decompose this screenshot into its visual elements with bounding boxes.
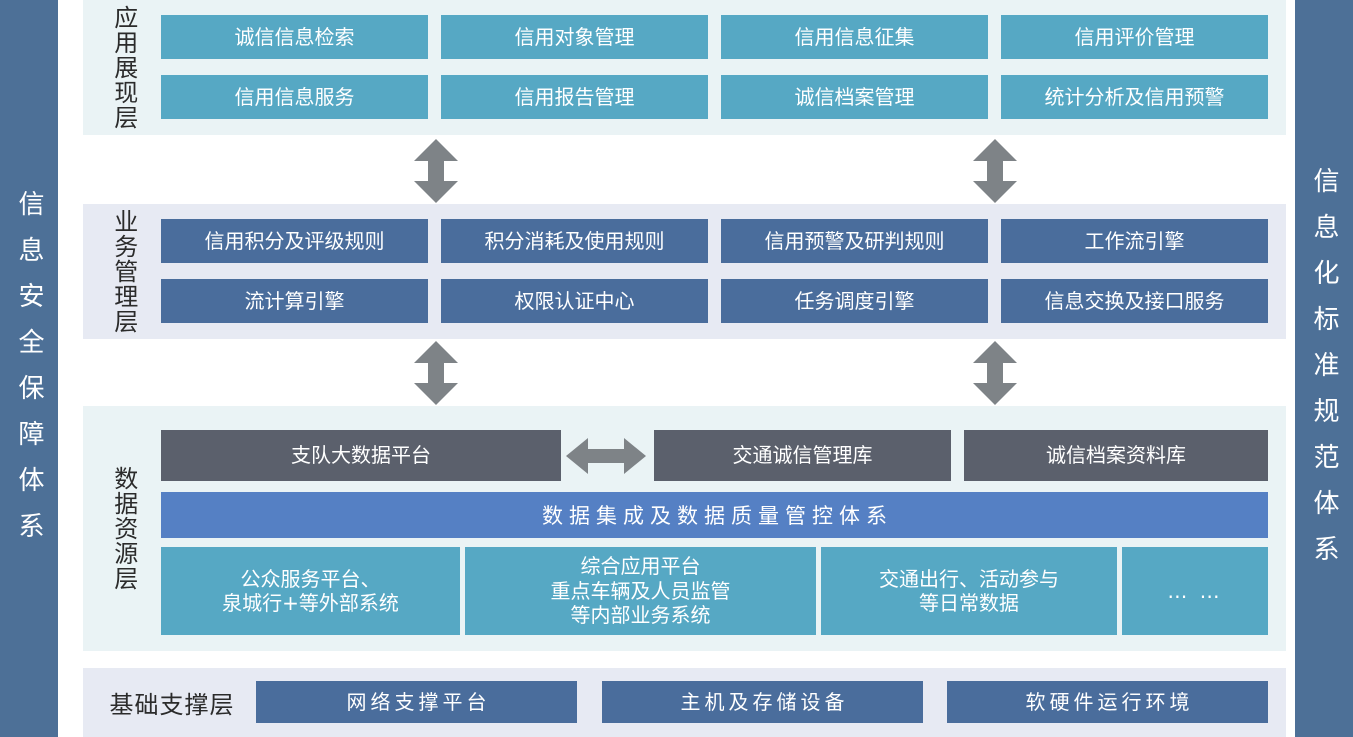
app-box-credit-info-collection[interactable]: 信用信息征集	[721, 15, 988, 59]
arrow-app-to-business-left	[414, 139, 458, 203]
infra-box-host-storage[interactable]: 主机及存储设备	[602, 681, 923, 723]
architecture-diagram: 信息安全保障体系 信息化标准规范体系 应用展现层 诚信信息检索 信用对象管理 信…	[0, 0, 1353, 737]
app-box-label: 信用信息征集	[795, 25, 915, 49]
app-box-label: 诚信档案管理	[795, 85, 915, 109]
biz-box-label: 流计算引擎	[245, 289, 345, 313]
data-repo-big-data-platform[interactable]: 支队大数据平台	[161, 430, 561, 481]
left-side-bar-label: 信息安全保障体系	[16, 180, 42, 558]
data-repo-traffic-credit-db[interactable]: 交通诚信管理库	[654, 430, 951, 481]
data-source-integrated-application-platform[interactable]: 综合应用平台 重点车辆及人员监管 等内部业务系统	[465, 547, 816, 635]
app-box-label: 信用信息服务	[235, 85, 355, 109]
data-integration-band-label: 数据集成及数据质量管控体系	[536, 500, 893, 530]
biz-box-label: 工作流引擎	[1085, 229, 1185, 253]
biz-box-info-exchange-api-service[interactable]: 信息交换及接口服务	[1001, 279, 1268, 323]
arrow-app-to-business-right	[973, 139, 1017, 203]
arrow-business-to-data-right	[973, 341, 1017, 405]
app-box-credit-info-search[interactable]: 诚信信息检索	[161, 15, 428, 59]
layer-title-infrastructure-support: 基础支撑层	[92, 668, 252, 737]
left-side-bar-security-assurance: 信息安全保障体系	[0, 0, 58, 737]
data-repo-label: 支队大数据平台	[291, 443, 431, 467]
app-box-credit-subject-mgmt[interactable]: 信用对象管理	[441, 15, 708, 59]
biz-box-label: 信息交换及接口服务	[1045, 289, 1225, 313]
app-box-label: 诚信信息检索	[235, 25, 355, 49]
data-repo-label: 交通诚信管理库	[733, 443, 873, 467]
data-source-label: 公众服务平台、 泉城行+等外部系统	[222, 567, 399, 616]
biz-box-warning-judgement-rules[interactable]: 信用预警及研判规则	[721, 219, 988, 263]
data-repo-credit-archive-db[interactable]: 诚信档案资料库	[964, 430, 1268, 481]
data-source-label: 综合应用平台 重点车辆及人员监管 等内部业务系统	[551, 554, 731, 627]
data-repo-label: 诚信档案资料库	[1046, 443, 1186, 467]
data-source-travel-activity-data[interactable]: 交通出行、活动参与 等日常数据	[821, 547, 1117, 635]
biz-box-label: 信用预警及研判规则	[765, 229, 945, 253]
layer-title-label-infrastructure: 基础支撑层	[110, 685, 235, 720]
layer-title-label-business: 业务管理层	[110, 209, 135, 334]
layer-title-label-data: 数据资源层	[110, 466, 135, 591]
layer-title-application-presentation: 应用展现层	[92, 0, 154, 135]
app-box-label: 信用对象管理	[515, 25, 635, 49]
biz-box-auth-center[interactable]: 权限认证中心	[441, 279, 708, 323]
layer-title-label-application: 应用展现层	[110, 5, 135, 130]
right-side-bar-label: 信息化标准规范体系	[1311, 157, 1337, 581]
app-box-credit-report-mgmt[interactable]: 信用报告管理	[441, 75, 708, 119]
infra-box-software-hardware-env[interactable]: 软硬件运行环境	[947, 681, 1268, 723]
infra-box-network-platform[interactable]: 网络支撑平台	[256, 681, 577, 723]
arrow-bigdata-to-credit-db	[566, 436, 646, 476]
data-integration-quality-band[interactable]: 数据集成及数据质量管控体系	[161, 492, 1268, 538]
right-side-bar-informatization-standards: 信息化标准规范体系	[1295, 0, 1353, 737]
app-box-credit-archive-mgmt[interactable]: 诚信档案管理	[721, 75, 988, 119]
infra-box-label: 软硬件运行环境	[1022, 690, 1194, 714]
biz-box-credit-score-rating-rules[interactable]: 信用积分及评级规则	[161, 219, 428, 263]
data-source-ellipsis[interactable]: … …	[1122, 547, 1268, 635]
data-source-label: 交通出行、活动参与 等日常数据	[879, 567, 1059, 616]
arrow-business-to-data-left	[414, 341, 458, 405]
biz-box-label: 信用积分及评级规则	[205, 229, 385, 253]
biz-box-label: 积分消耗及使用规则	[485, 229, 665, 253]
biz-box-label: 任务调度引擎	[795, 289, 915, 313]
app-box-label: 统计分析及信用预警	[1045, 85, 1225, 109]
app-box-statistics-and-warning[interactable]: 统计分析及信用预警	[1001, 75, 1268, 119]
layer-title-data-resource: 数据资源层	[92, 406, 154, 651]
data-source-public-service-platform[interactable]: 公众服务平台、 泉城行+等外部系统	[161, 547, 460, 635]
infra-box-label: 主机及存储设备	[677, 690, 849, 714]
biz-box-label: 权限认证中心	[515, 289, 635, 313]
app-box-credit-info-service[interactable]: 信用信息服务	[161, 75, 428, 119]
app-box-label: 信用报告管理	[515, 85, 635, 109]
app-box-credit-evaluation-mgmt[interactable]: 信用评价管理	[1001, 15, 1268, 59]
infra-box-label: 网络支撑平台	[343, 690, 491, 714]
biz-box-task-scheduling-engine[interactable]: 任务调度引擎	[721, 279, 988, 323]
data-source-label: … …	[1167, 579, 1222, 603]
biz-box-score-consumption-rules[interactable]: 积分消耗及使用规则	[441, 219, 708, 263]
biz-box-workflow-engine[interactable]: 工作流引擎	[1001, 219, 1268, 263]
app-box-label: 信用评价管理	[1075, 25, 1195, 49]
biz-box-stream-compute-engine[interactable]: 流计算引擎	[161, 279, 428, 323]
layer-title-business-management: 业务管理层	[92, 204, 154, 339]
